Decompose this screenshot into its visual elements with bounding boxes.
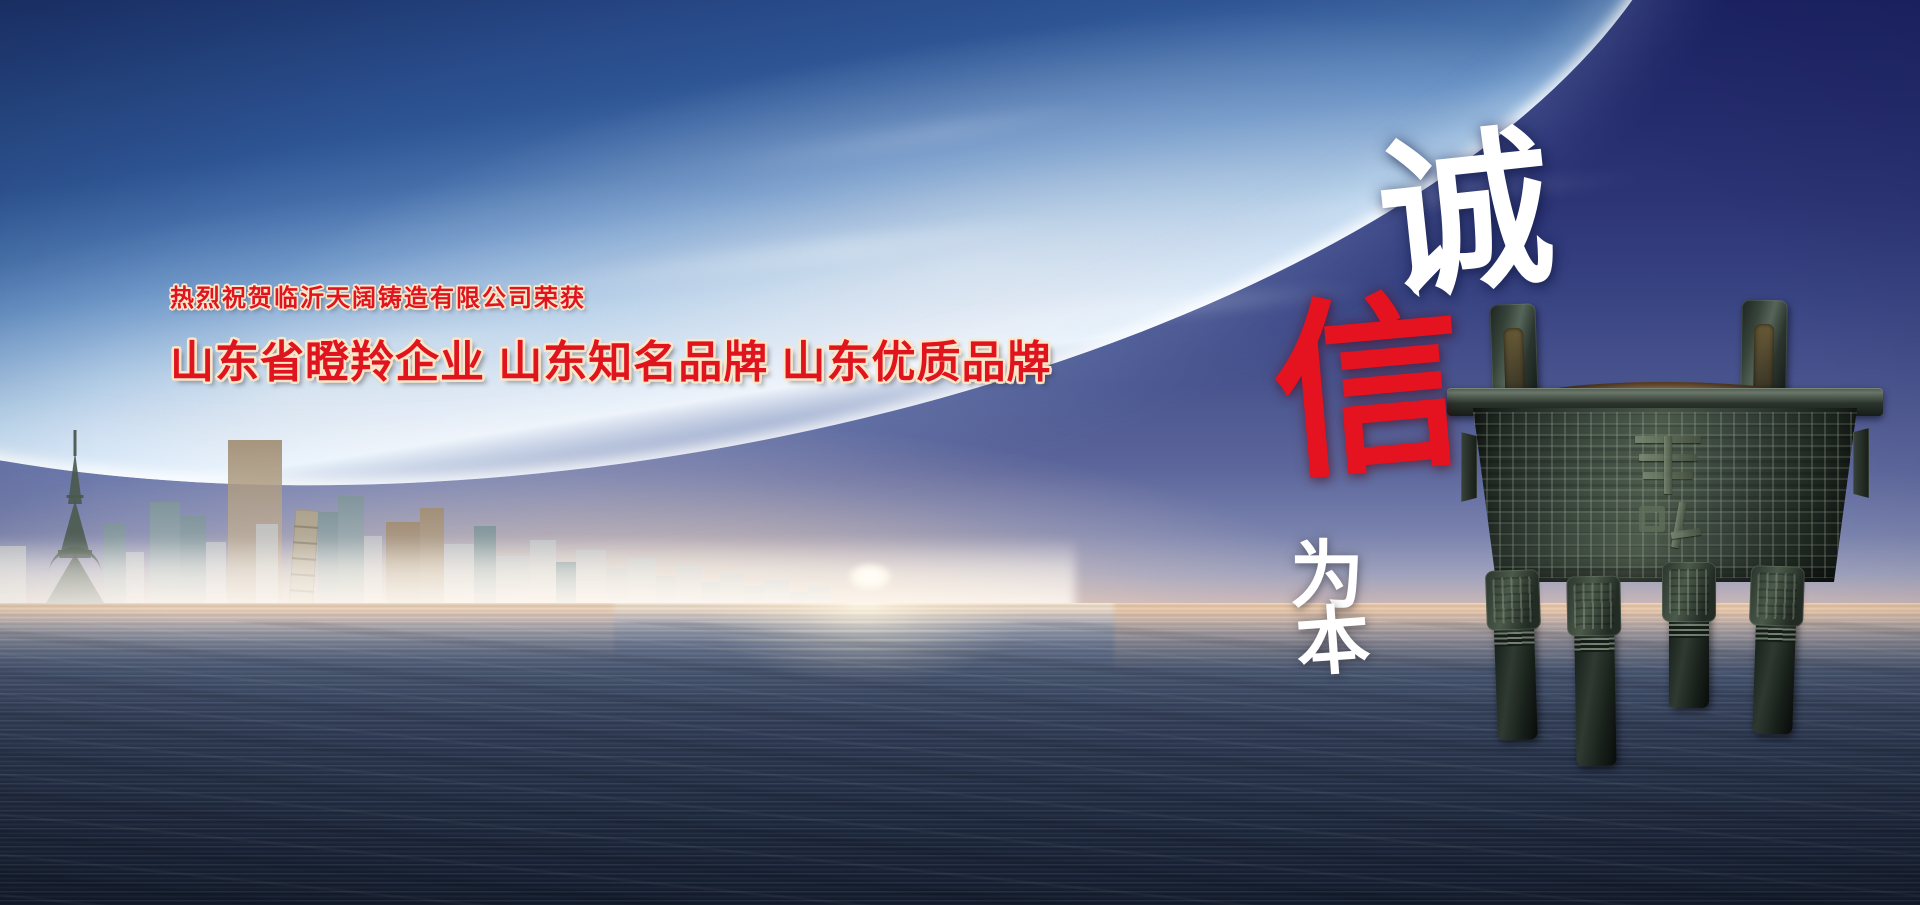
ding-leg [1752, 571, 1798, 734]
ding-leg [1573, 582, 1616, 767]
calligraphy-glyph: 信 [1266, 288, 1472, 494]
bronze-ding-vessel [1455, 300, 1875, 740]
ding-leg [1669, 568, 1709, 708]
calligraphy-characters-weiben: 为 本 [1290, 540, 1370, 680]
calligraphy-glyph: 本 [1294, 604, 1373, 683]
headline-block: 热烈祝贺临沂天阔铸造有限公司荣获 山东省瞪羚企业 山东知名品牌 山东优质品牌 [170, 278, 1050, 390]
ding-flange-right [1853, 428, 1869, 498]
calligraphy-character-xin: 信 [1266, 288, 1472, 494]
ding-handle-left [1489, 303, 1538, 401]
company-honor-banner: 诚 信 为 本 热烈祝贺临沂天阔铸造有限公司荣获 山东省瞪羚企业 山东知名品牌 … [0, 0, 1920, 905]
headline-line-1: 热烈祝贺临沂天阔铸造有限公司荣获 [170, 278, 1050, 313]
ding-leg [1492, 575, 1538, 740]
ding-central-glyph [1631, 430, 1705, 552]
ding-handle-right [1740, 300, 1788, 397]
headline-line-2: 山东省瞪羚企业 山东知名品牌 山东优质品牌 [170, 326, 1050, 390]
sun-reflection-streaks [538, 603, 1191, 742]
